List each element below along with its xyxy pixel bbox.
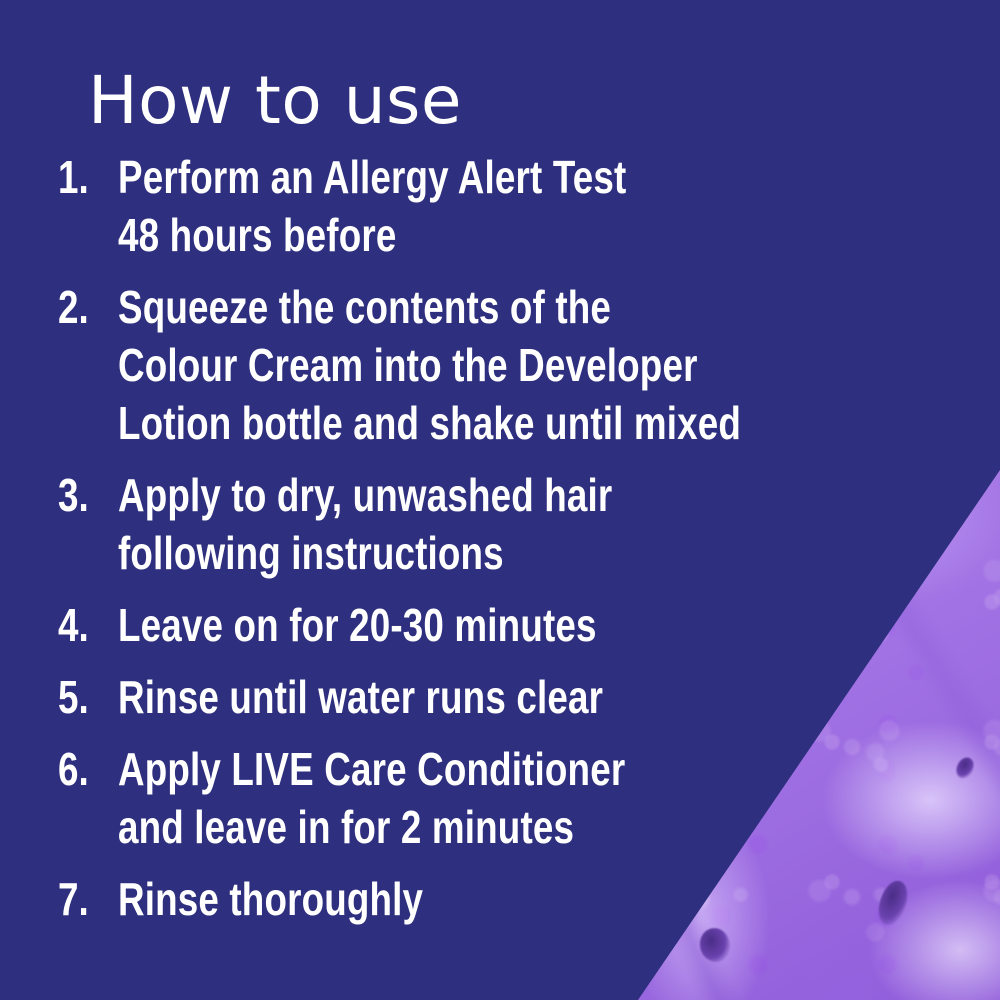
step-text: Perform an Allergy Alert Test48 hours be…	[0, 148, 960, 264]
instruction-steps-list: 1.Perform an Allergy Alert Test48 hours …	[0, 148, 960, 942]
step-text: Rinse until water runs clear	[0, 668, 960, 726]
step-number: 7.	[58, 870, 89, 928]
step-text-line: Leave on for 20-30 minutes	[118, 596, 792, 654]
step-text-line: Squeeze the contents of the	[118, 278, 792, 336]
page-title: How to use	[88, 68, 462, 134]
step-number: 1.	[58, 148, 89, 206]
step-number: 3.	[58, 466, 89, 524]
step-number: 5.	[58, 668, 89, 726]
step-text-line: Colour Cream into the Developer	[118, 336, 792, 394]
step-item: 4.Leave on for 20-30 minutes	[0, 596, 960, 654]
step-text: Leave on for 20-30 minutes	[0, 596, 960, 654]
step-item: 1.Perform an Allergy Alert Test48 hours …	[0, 148, 960, 264]
step-text-line: following instructions	[118, 524, 792, 582]
step-item: 3.Apply to dry, unwashed hairfollowing i…	[0, 466, 960, 582]
step-number: 2.	[58, 278, 89, 336]
step-text-line: 48 hours before	[118, 206, 792, 264]
step-item: 5.Rinse until water runs clear	[0, 668, 960, 726]
step-text: Apply LIVE Care Conditionerand leave in …	[0, 740, 960, 856]
step-item: 7.Rinse thoroughly	[0, 870, 960, 928]
step-item: 6.Apply LIVE Care Conditionerand leave i…	[0, 740, 960, 856]
step-text-line: and leave in for 2 minutes	[118, 798, 792, 856]
step-number: 4.	[58, 596, 89, 654]
step-text-line: Rinse until water runs clear	[118, 668, 792, 726]
step-text: Rinse thoroughly	[0, 870, 960, 928]
step-text: Apply to dry, unwashed hairfollowing ins…	[0, 466, 960, 582]
step-number: 6.	[58, 740, 89, 798]
step-text: Squeeze the contents of theColour Cream …	[0, 278, 960, 452]
how-to-use-panel: How to use 1.Perform an Allergy Alert Te…	[0, 0, 1000, 1000]
step-text-line: Rinse thoroughly	[118, 870, 792, 928]
step-text-line: Perform an Allergy Alert Test	[118, 148, 792, 206]
step-text-line: Lotion bottle and shake until mixed	[118, 394, 792, 452]
step-text-line: Apply to dry, unwashed hair	[118, 466, 792, 524]
step-text-line: Apply LIVE Care Conditioner	[118, 740, 792, 798]
step-item: 2.Squeeze the contents of theColour Crea…	[0, 278, 960, 452]
